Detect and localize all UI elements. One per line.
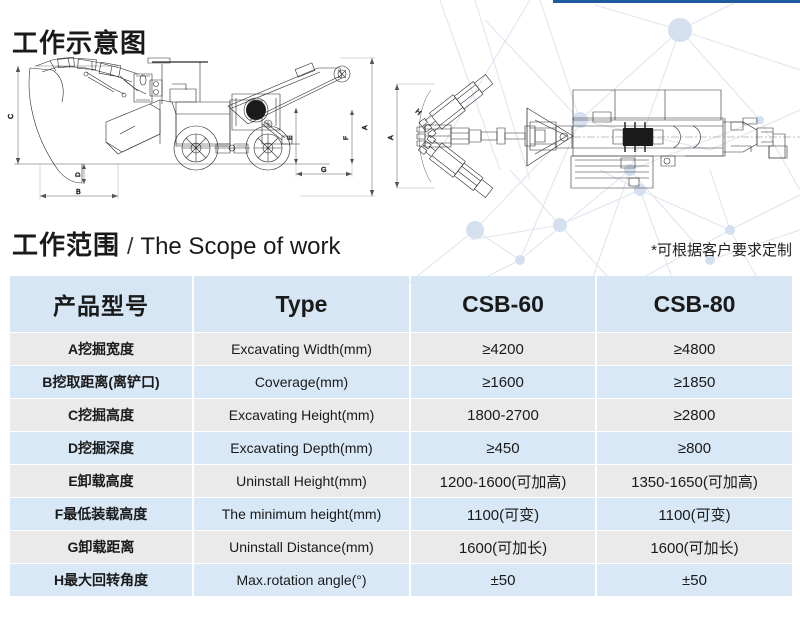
side-view-technical-drawing: C B D [0, 44, 380, 204]
row-label-en: The minimum height(mm) [194, 498, 409, 530]
specifications-table: 产品型号 Type CSB-60 CSB-80 A挖掘宽度 Excavating… [8, 275, 794, 597]
row-value-csb60: 1200-1600(可加高) [411, 465, 595, 497]
svg-text:C: C [8, 114, 15, 119]
row-label-en: Uninstall Height(mm) [194, 465, 409, 497]
column-header-csb60: CSB-60 [411, 276, 595, 332]
row-label-en: Coverage(mm) [194, 366, 409, 398]
page-root: 工作示意图 C B D [0, 0, 800, 618]
row-label-cn: D挖掘深度 [10, 432, 192, 464]
row-value-csb60: ≥4200 [411, 333, 595, 365]
row-value-csb60: 1800-2700 [411, 399, 595, 431]
row-label-cn: A挖掘宽度 [10, 333, 192, 365]
svg-text:B: B [76, 189, 81, 196]
row-value-csb80: ≥2800 [597, 399, 792, 431]
svg-text:G: G [321, 167, 326, 174]
row-value-csb60: ±50 [411, 564, 595, 596]
column-header-type: Type [194, 276, 409, 332]
page-title: 工作示意图 [12, 23, 147, 60]
table-row: D挖掘深度 Excavating Depth(mm) ≥450 ≥800 [10, 432, 792, 464]
table-row: C挖掘高度 Excavating Height(mm) 1800-2700 ≥2… [10, 399, 792, 431]
row-label-cn: C挖掘高度 [10, 399, 192, 431]
row-value-csb60: 1100(可变) [411, 498, 595, 530]
column-header-model-cn: 产品型号 [10, 276, 192, 332]
row-value-csb80: 1100(可变) [597, 498, 792, 530]
row-value-csb60: 1600(可加长) [411, 531, 595, 563]
svg-text:E: E [287, 135, 294, 140]
svg-text:D: D [75, 172, 82, 177]
row-label-en: Excavating Depth(mm) [194, 432, 409, 464]
scope-heading-cn: 工作范围 [12, 225, 120, 262]
svg-text:A: A [362, 125, 369, 130]
header-row: 产品型号 Type CSB-60 CSB-80 [10, 276, 792, 332]
table-header: 产品型号 Type CSB-60 CSB-80 [10, 276, 792, 332]
row-value-csb80: 1350-1650(可加高) [597, 465, 792, 497]
row-label-cn: B挖取距离(离铲口) [10, 366, 192, 398]
row-value-csb80: 1600(可加长) [597, 531, 792, 563]
top-view-technical-drawing: A H [385, 40, 800, 205]
customization-note: *可根据客户要求定制 [651, 239, 792, 260]
top-accent-bar [553, 0, 800, 3]
row-value-csb80: ≥1850 [597, 366, 792, 398]
table-row: E卸载高度 Uninstall Height(mm) 1200-1600(可加高… [10, 465, 792, 497]
table-row: G卸载距离 Uninstall Distance(mm) 1600(可加长) 1… [10, 531, 792, 563]
scope-heading: 工作范围 / The Scope of work [12, 225, 341, 262]
row-label-cn: H最大回转角度 [10, 564, 192, 596]
row-value-csb60: ≥1600 [411, 366, 595, 398]
row-label-cn: F最低装载高度 [10, 498, 192, 530]
table-body: A挖掘宽度 Excavating Width(mm) ≥4200 ≥4800 B… [10, 333, 792, 596]
row-label-en: Uninstall Distance(mm) [194, 531, 409, 563]
row-label-cn: E卸载高度 [10, 465, 192, 497]
svg-text:H: H [414, 108, 422, 117]
row-value-csb60: ≥450 [411, 432, 595, 464]
table-row: H最大回转角度 Max.rotation angle(°) ±50 ±50 [10, 564, 792, 596]
svg-text:A: A [388, 135, 395, 140]
row-value-csb80: ≥4800 [597, 333, 792, 365]
table-row: F最低装载高度 The minimum height(mm) 1100(可变) … [10, 498, 792, 530]
table-row: B挖取距离(离铲口) Coverage(mm) ≥1600 ≥1850 [10, 366, 792, 398]
row-label-en: Excavating Height(mm) [194, 399, 409, 431]
column-header-csb80: CSB-80 [597, 276, 792, 332]
row-label-en: Max.rotation angle(°) [194, 564, 409, 596]
scope-heading-en: The Scope of work [140, 233, 340, 261]
row-label-en: Excavating Width(mm) [194, 333, 409, 365]
svg-text:F: F [343, 136, 350, 140]
row-value-csb80: ±50 [597, 564, 792, 596]
scope-heading-separator: / [127, 233, 133, 260]
row-label-cn: G卸载距离 [10, 531, 192, 563]
row-value-csb80: ≥800 [597, 432, 792, 464]
table-row: A挖掘宽度 Excavating Width(mm) ≥4200 ≥4800 [10, 333, 792, 365]
